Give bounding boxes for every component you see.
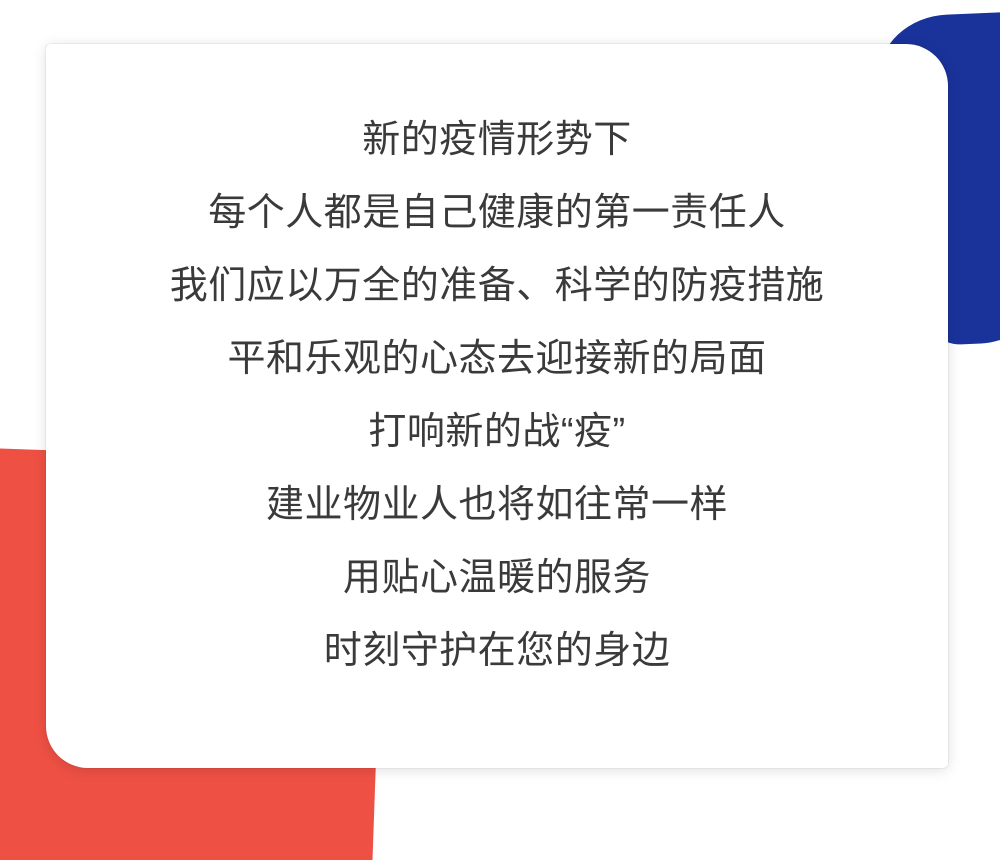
- poster-canvas: 新的疫情形势下 每个人都是自己健康的第一责任人 我们应以万全的准备、科学的防疫措…: [0, 0, 1000, 860]
- message-line: 每个人都是自己健康的第一责任人: [46, 177, 948, 250]
- message-line: 时刻守护在您的身边: [46, 615, 948, 688]
- message-line: 平和乐观的心态去迎接新的局面: [46, 323, 948, 396]
- message-line: 用贴心温暖的服务: [46, 542, 948, 615]
- message-line: 建业物业人也将如往常一样: [46, 469, 948, 542]
- message-line: 我们应以万全的准备、科学的防疫措施: [46, 250, 948, 323]
- message-line: 新的疫情形势下: [46, 104, 948, 177]
- message-text-block: 新的疫情形势下 每个人都是自己健康的第一责任人 我们应以万全的准备、科学的防疫措…: [46, 104, 948, 688]
- content-card: 新的疫情形势下 每个人都是自己健康的第一责任人 我们应以万全的准备、科学的防疫措…: [46, 44, 948, 768]
- message-line: 打响新的战“疫”: [46, 396, 948, 469]
